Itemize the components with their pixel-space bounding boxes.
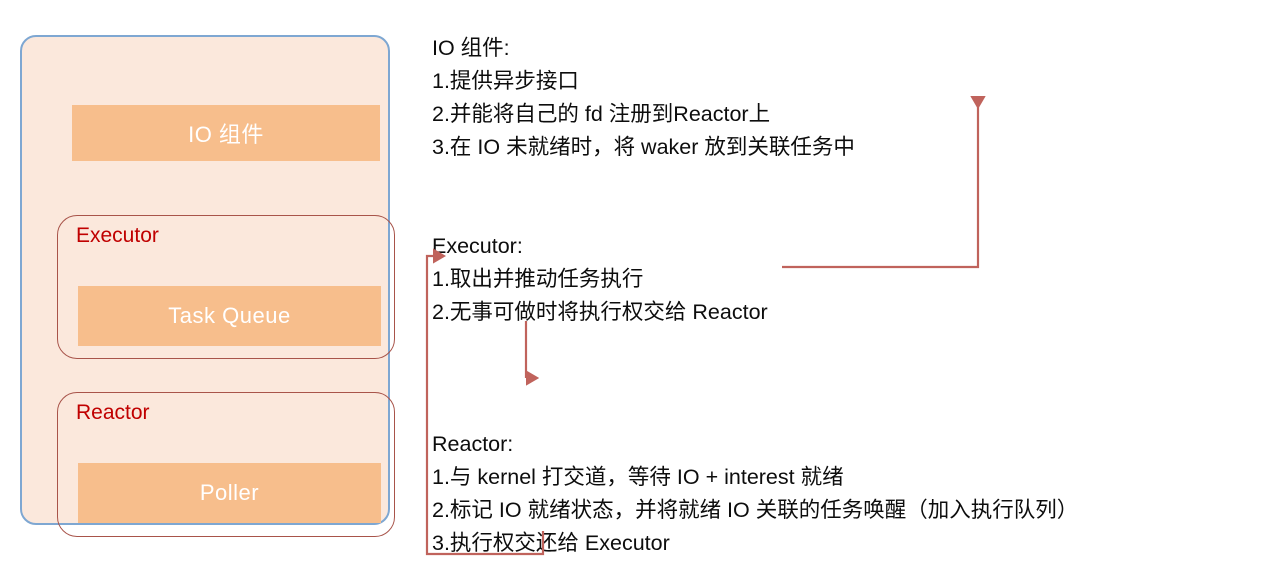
notes-spacer-4: [432, 362, 1252, 395]
notes-spacer-3: [432, 329, 1252, 362]
reactor-box-label: Reactor: [76, 401, 150, 425]
executor-notes-line-2: 2.无事可做时将执行权交给 Reactor: [432, 296, 1252, 329]
notes-spacer-5: [432, 395, 1252, 428]
io-notes-heading: IO 组件:: [432, 32, 1252, 65]
notes-column: IO 组件: 1.提供异步接口 2.并能将自己的 fd 注册到Reactor上 …: [432, 32, 1252, 560]
io-notes-block: IO 组件: 1.提供异步接口 2.并能将自己的 fd 注册到Reactor上 …: [432, 32, 1252, 164]
task-queue-bar: Task Queue: [78, 286, 381, 346]
reactor-notes-line-3: 3.执行权交还给 Executor: [432, 527, 1252, 560]
async-runtime-panel: IO 组件 Executor Task Queue Reactor Poller: [20, 35, 390, 525]
poller-bar: Poller: [78, 463, 381, 523]
notes-spacer-1: [432, 164, 1252, 197]
io-component-bar: IO 组件: [72, 105, 380, 161]
executor-box: Executor Task Queue: [57, 215, 395, 359]
executor-notes-heading: Executor:: [432, 230, 1252, 263]
io-notes-line-3: 3.在 IO 未就绪时，将 waker 放到关联任务中: [432, 131, 1252, 164]
reactor-notes-line-2: 2.标记 IO 就绪状态，并将就绪 IO 关联的任务唤醒（加入执行队列）: [432, 494, 1252, 527]
reactor-box: Reactor Poller: [57, 392, 395, 537]
io-notes-line-1: 1.提供异步接口: [432, 65, 1252, 98]
reactor-notes-heading: Reactor:: [432, 428, 1252, 461]
reactor-notes-line-1: 1.与 kernel 打交道，等待 IO + interest 就绪: [432, 461, 1252, 494]
executor-notes-block: Executor: 1.取出并推动任务执行 2.无事可做时将执行权交给 Reac…: [432, 230, 1252, 329]
reactor-notes-block: Reactor: 1.与 kernel 打交道，等待 IO + interest…: [432, 428, 1252, 560]
executor-box-label: Executor: [76, 224, 159, 248]
executor-notes-line-1: 1.取出并推动任务执行: [432, 263, 1252, 296]
diagram-canvas: IO 组件 Executor Task Queue Reactor Poller…: [0, 0, 1280, 573]
notes-spacer-2: [432, 197, 1252, 230]
io-notes-line-2: 2.并能将自己的 fd 注册到Reactor上: [432, 98, 1252, 131]
